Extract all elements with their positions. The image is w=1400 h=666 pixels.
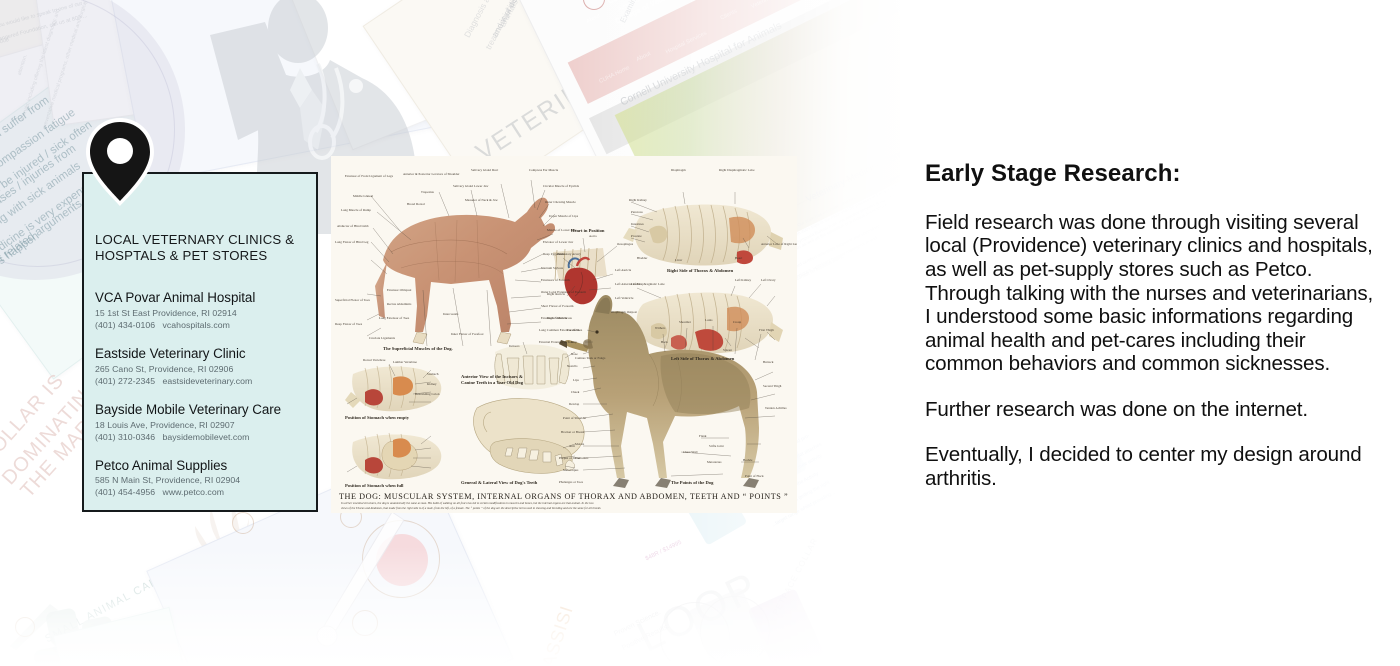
pet-icon-chip — [69, 653, 105, 666]
poster-label: Extensor Obliquol — [387, 288, 411, 292]
clinic-website[interactable]: eastsideveterinary.com — [163, 376, 253, 386]
poster-caption: Position of Stomach when full — [345, 483, 403, 488]
info-box-content: LOCAL VETERNARY CLINICS & HOSPTALS & PET… — [84, 174, 316, 498]
collage-text-fragment: About — [585, 13, 601, 25]
collage-product-shape — [688, 587, 769, 666]
poster-label: Superficial Flexor of Toes — [335, 298, 370, 302]
poster-label: Pulmonary Artery — [557, 252, 581, 256]
collage-text-fragment: Cornell University Hospital for Animals — [618, 20, 783, 109]
collage-text-fragment: Examination — [618, 0, 645, 24]
collage-text-fragment: If you would like to speak to one of our… — [0, 0, 89, 31]
poster-label: Short Flexor of Forearm — [541, 304, 573, 308]
collage-text-fragment: Veterinary Medicine Consulting — [804, 138, 900, 205]
clinic-phone: (401) 310-0346 — [95, 432, 155, 442]
poster-label: Abductor of Hind Limb — [337, 224, 369, 228]
clinic-listing[interactable]: Eastside Veterinary Clinic 265 Cano St, … — [95, 346, 316, 387]
poster-label: Molars — [575, 442, 584, 446]
collage-text-fragment: Our team has extensive structured veteri… — [797, 157, 900, 227]
poster-label: Muscle of Lower Lips — [547, 228, 577, 232]
poster-label: Circular Muscle of Eyelids — [543, 184, 579, 188]
research-paragraph: Eventually, I decided to center my desig… — [925, 443, 1377, 490]
collage-text-fragment: Can be injured / sick often — [0, 119, 94, 205]
collage-ring — [660, 602, 730, 666]
poster-label: Point of Shoulder — [563, 416, 587, 420]
slide-canvas: Can suffer from compassion fatigue Can b… — [0, 0, 1400, 666]
clinic-website[interactable]: vcahospitals.com — [163, 320, 230, 330]
collage-sheet — [0, 0, 144, 111]
poster-label: Point of Hock — [745, 474, 764, 478]
clinic-website[interactable]: baysidemobilevet.com — [163, 432, 250, 442]
poster-label: Long Extensor of Toes — [379, 316, 409, 320]
collage-text-fragment: VETERINARIAN — [471, 29, 662, 167]
poster-label: Phalanges or Toes — [559, 480, 583, 484]
collage-ring — [15, 617, 35, 637]
collage-text-fragment: Diagnosis and — [462, 0, 496, 39]
poster-label: Elevator of Lower Jaw — [543, 240, 573, 244]
clinic-contact: (401) 454-4956 www.petco.com — [95, 486, 316, 498]
collage-text-fragment: and injuries of — [490, 0, 524, 39]
poster-label: Extensors of Forearm — [541, 278, 570, 282]
poster-label: Carpus or Wrist — [559, 456, 580, 460]
clinic-contact: (401) 272-2345 eastsideveterinary.com — [95, 375, 316, 387]
clinic-name: Petco Animal Supplies — [95, 458, 316, 474]
collage-text-fragment: Veterinarians — [750, 0, 783, 10]
pet-icon-chip — [81, 615, 117, 654]
poster-footnote: views of the Thorax and Abdomen, that ma… — [341, 506, 601, 510]
collage-product-shape — [748, 589, 825, 666]
collage-ring — [352, 610, 378, 636]
poster-caption: General & Lateral View of Dog's Teeth — [461, 480, 537, 485]
clinic-phone: (401) 454-4956 — [95, 487, 155, 497]
poster-label: Extensor of Front Ligament of Legs — [345, 174, 393, 178]
collage-text-fragment: preventative medical programs, other med… — [42, 0, 89, 130]
collage-text-fragment: High cost related arguments — [0, 198, 84, 290]
poster-label: Buttock — [763, 360, 774, 364]
poster-label: Canines Tusk or Fangs — [575, 356, 605, 360]
poster-label: Incisors — [509, 344, 520, 348]
poster-label: Tendon Achilles — [765, 406, 787, 410]
dog-anatomy-poster: The Superficial Muscles of the Dog. Hear… — [331, 156, 797, 513]
collage-text-fragment: LOOP — [630, 562, 767, 662]
poster-label: Long Flexor of Hind Leg — [335, 240, 369, 244]
poster-label: Salivary Gland Duct — [471, 168, 498, 172]
collage-text-fragment: Hospital Services — [665, 30, 708, 55]
poster-label: Cruciate Ligaments — [369, 336, 395, 340]
clinic-phone: (401) 272-2345 — [95, 376, 155, 386]
poster-label: Stop — [571, 340, 577, 344]
clinic-name: Bayside Mobile Veterinary Care — [95, 402, 316, 418]
collage-text-fragment: $48R / $14995 — [645, 540, 683, 563]
collage-sheet — [29, 0, 302, 127]
poster-label: Stifle Joint — [709, 444, 724, 448]
poster-label: Intestines — [631, 222, 644, 226]
poster-label: Heart — [735, 256, 742, 260]
poster-label: Metatarsus — [707, 460, 722, 464]
poster-label: Anterior Lobe of Right Lung — [761, 242, 797, 246]
poster-label: Sternum Stylous — [541, 266, 563, 270]
clinic-contact: (401) 434-0106 vcahospitals.com — [95, 319, 316, 331]
poster-label: Cheek — [571, 390, 579, 394]
clinic-listing[interactable]: Petco Animal Supplies 585 N Main St, Pro… — [95, 458, 316, 499]
pet-icon-chip — [33, 645, 69, 666]
poster-label: Intercostals — [443, 312, 458, 316]
deer-silhouette-icon — [115, 500, 365, 666]
collage-cornell-banner — [568, 0, 900, 104]
poster-label: Descending Colon — [415, 392, 440, 396]
poster-label: Shoulder — [679, 320, 691, 324]
collage-text-fragment: Admissions — [617, 0, 645, 13]
poster-label: Deep Flexor of Toes — [335, 322, 362, 326]
poster-label: Rectus Abdominis — [387, 302, 411, 306]
poster-label: Back — [661, 340, 668, 344]
collage-sheet — [53, 607, 191, 666]
poster-label: Metacarpus — [563, 468, 578, 472]
collage-ring — [362, 520, 440, 598]
page-title: Early Stage Research: — [925, 160, 1377, 189]
poster-title: THE DOG: MUSCULAR SYSTEM, INTERNAL ORGAN… — [339, 492, 788, 501]
poster-label: Left Auricle — [615, 268, 631, 272]
collage-text-fragment: working with sick animals — [0, 160, 83, 244]
poster-label: Left Kidney — [735, 278, 751, 282]
poster-label: Oesophagus — [617, 242, 633, 246]
poster-label: External Extensor of Toes — [539, 340, 574, 344]
poster-caption: Anterior View of the Incisors & Canine T… — [461, 374, 523, 385]
poster-label: Nose — [571, 352, 578, 356]
collage-text-fragment: Diseases / injuries from — [0, 143, 78, 221]
map-pin-icon — [83, 116, 157, 208]
poster-caption: The Points of the Dog — [671, 480, 713, 485]
poster-label: Masseter of Neck & Jaw — [465, 198, 498, 202]
clinic-listing[interactable]: Bayside Mobile Veterinary Care 18 Louis … — [95, 402, 316, 443]
research-text-panel: Early Stage Research: Field research was… — [925, 160, 1377, 491]
clinic-website[interactable]: www.petco.com — [163, 487, 224, 497]
collage-text-fragment: treatment of diseases — [483, 0, 530, 51]
poster-label: Inner Flexor of Forefoot — [451, 332, 484, 336]
poster-label: Croup — [733, 320, 741, 324]
clinic-listing[interactable]: VCA Povar Animal Hospital 15 1st St East… — [95, 290, 316, 331]
poster-label: Aorta — [589, 234, 597, 238]
collage-text-fragment: DOLLAR IS — [0, 370, 69, 470]
collage-accent-disc — [376, 534, 428, 586]
collage-text-fragment: Can suffer from — [0, 94, 51, 149]
collage-text-fragment: Positive Results. — [621, 623, 671, 652]
poster-label: Diaphragm Outpost — [611, 310, 637, 314]
poster-label: Chest Wall — [683, 450, 698, 454]
poster-label: First Thigh — [759, 328, 774, 332]
poster-label: Right Ventricle — [547, 316, 567, 320]
collage-text-fragment: compassion fatigue — [0, 107, 78, 174]
poster-label: Left Ventricle — [615, 296, 633, 300]
collage-ring — [232, 512, 254, 534]
poster-label: Right Auricle — [547, 292, 565, 296]
collage-text-fragment: LARGE ANIMAL CARE — [175, 530, 302, 605]
poster-label: Spleen — [723, 348, 732, 352]
poster-caption-text: Anterior View of the Incisors & Canine T… — [461, 374, 523, 385]
poster-label: Left Ovary — [761, 278, 776, 282]
collage-cornell-navbar — [589, 0, 900, 154]
thermometer-icon — [300, 506, 430, 666]
collage-text-fragment: animals — [497, 0, 520, 28]
poster-label: Upper Muscle of Lips — [549, 214, 578, 218]
clinic-address: 585 N Main St, Providence, RI 02904 — [95, 474, 316, 486]
poster-caption: Right Side of Thorax & Abdomen — [667, 268, 733, 273]
poster-label: Trapezius — [421, 190, 434, 194]
poster-label: Stomach — [427, 372, 439, 376]
poster-label: Anterior & Posterior Levators of Shoulde… — [403, 172, 460, 176]
clinic-name: VCA Povar Animal Hospital — [95, 290, 316, 306]
clinic-address: 15 1st St East Providence, RI 02914 — [95, 307, 316, 319]
collage-text-fragment: programs as well as the education of a c… — [783, 201, 890, 257]
poster-label: Outer Chewing Muscle — [545, 200, 576, 204]
scissors-icon — [4, 594, 64, 654]
collage-text-fragment: with 400+ trips to the more than 50 prac… — [792, 171, 900, 238]
poster-label: Arm — [569, 444, 575, 448]
poster-label: Right Kidney — [629, 198, 647, 202]
collage-text-fragment: Proven Science. — [613, 609, 662, 638]
research-paragraph: Further research was done on the interne… — [925, 398, 1377, 422]
poster-label: Middle Gluteal — [353, 194, 373, 198]
clinic-phone: (401) 434-0106 — [95, 320, 155, 330]
collage-text-fragment: attention. — [17, 54, 29, 76]
poster-label: Withers — [655, 326, 665, 330]
local-clinics-info-box: LOCAL VETERNARY CLINICS & HOSPTALS & PET… — [82, 172, 318, 512]
clinic-name: Eastside Veterinary Clinic — [95, 346, 316, 362]
poster-label: Second Thigh — [763, 384, 781, 388]
pet-icon-chip — [117, 623, 153, 662]
info-box-title: LOCAL VETERNARY CLINICS & HOSPTALS & PET… — [95, 232, 316, 264]
collage-text-fragment: ASSISI — [538, 603, 578, 666]
poster-label: Diaphragm — [671, 168, 686, 172]
poster-caption: Position of Stomach when empty — [345, 415, 409, 420]
collage-sheet — [266, 0, 593, 150]
poster-label: Hockle — [743, 458, 753, 462]
collage-text-fragment: PETPACE COLLAR — [771, 536, 820, 617]
clinic-address: 265 Cano St, Providence, RI 02906 — [95, 363, 316, 375]
collage-ring — [700, 596, 770, 666]
poster-label: Prostate — [631, 234, 642, 238]
poster-label: Dewlap — [569, 402, 579, 406]
collage-text-fragment: Cornell University — [606, 0, 668, 6]
poster-label: Salivary Gland Lower Jaw — [453, 184, 488, 188]
collage-text-fragment: College of Veterinary Medicine — [614, 0, 717, 26]
poster-label: Bracket or Breast — [561, 430, 584, 434]
collage-text-fragment: and owners happen — [0, 230, 41, 298]
poster-label: Pancreas — [631, 210, 643, 214]
collage-text-fragment: animals, including offering the latest d… — [20, 8, 62, 121]
poster-label: Left Diaphragmatic Lobe — [631, 282, 665, 286]
poster-footnote: In all her essential structures, the dog… — [341, 501, 594, 505]
poster-label: Right Diaphragmatic Lobe — [719, 168, 755, 172]
poster-label: Liver — [675, 258, 682, 262]
collage-text-fragment: SMALL ANIMAL CARE — [43, 571, 169, 645]
poster-caption: The Superficial Muscles of the Dog. — [383, 346, 453, 351]
poster-label: Flank — [699, 434, 707, 438]
collage-text-fragment: Clients — [720, 8, 739, 21]
collage-bottom-fade — [0, 546, 900, 666]
poster-label: Lips — [573, 378, 579, 382]
poster-label: Long Muscle of Rump — [341, 208, 371, 212]
clinic-contact: (401) 310-0346 baysidemobilevet.com — [95, 431, 316, 443]
collage-text-fragment: 555-5000 — [0, 37, 10, 49]
poster-caption: Left Side of Thorax & Abdomen — [671, 356, 734, 361]
poster-label: Kidney — [427, 382, 437, 386]
clinic-address: 18 Louis Ave, Providence, RI 02907 — [95, 419, 316, 431]
poster-label: Dorsal Vertebrae — [363, 358, 385, 362]
poster-label: Loins — [705, 318, 713, 322]
poster-label: Lumbar Vertebrae — [393, 360, 417, 364]
collage-text-fragment: Endangered Foundation, call us at 800-..… — [0, 13, 88, 45]
collage-text-fragment: About — [635, 51, 651, 63]
pet-icon-chip — [45, 607, 81, 646]
research-paragraph: Field research was done through visiting… — [925, 211, 1377, 376]
poster-label: Forehead — [567, 328, 579, 332]
poster-label: Nostrils — [567, 364, 578, 368]
poster-label: Bladder — [637, 256, 648, 260]
collage-text-fragment: and Symposia Bureau from, the practice p… — [788, 185, 900, 249]
collage-text-fragment: CUHA Home — [598, 65, 630, 85]
poster-label: Broad Dorsal — [407, 202, 425, 206]
poster-label: Compress Ear Muscle — [529, 168, 558, 172]
collage-cornell-seal-icon — [579, 0, 608, 14]
